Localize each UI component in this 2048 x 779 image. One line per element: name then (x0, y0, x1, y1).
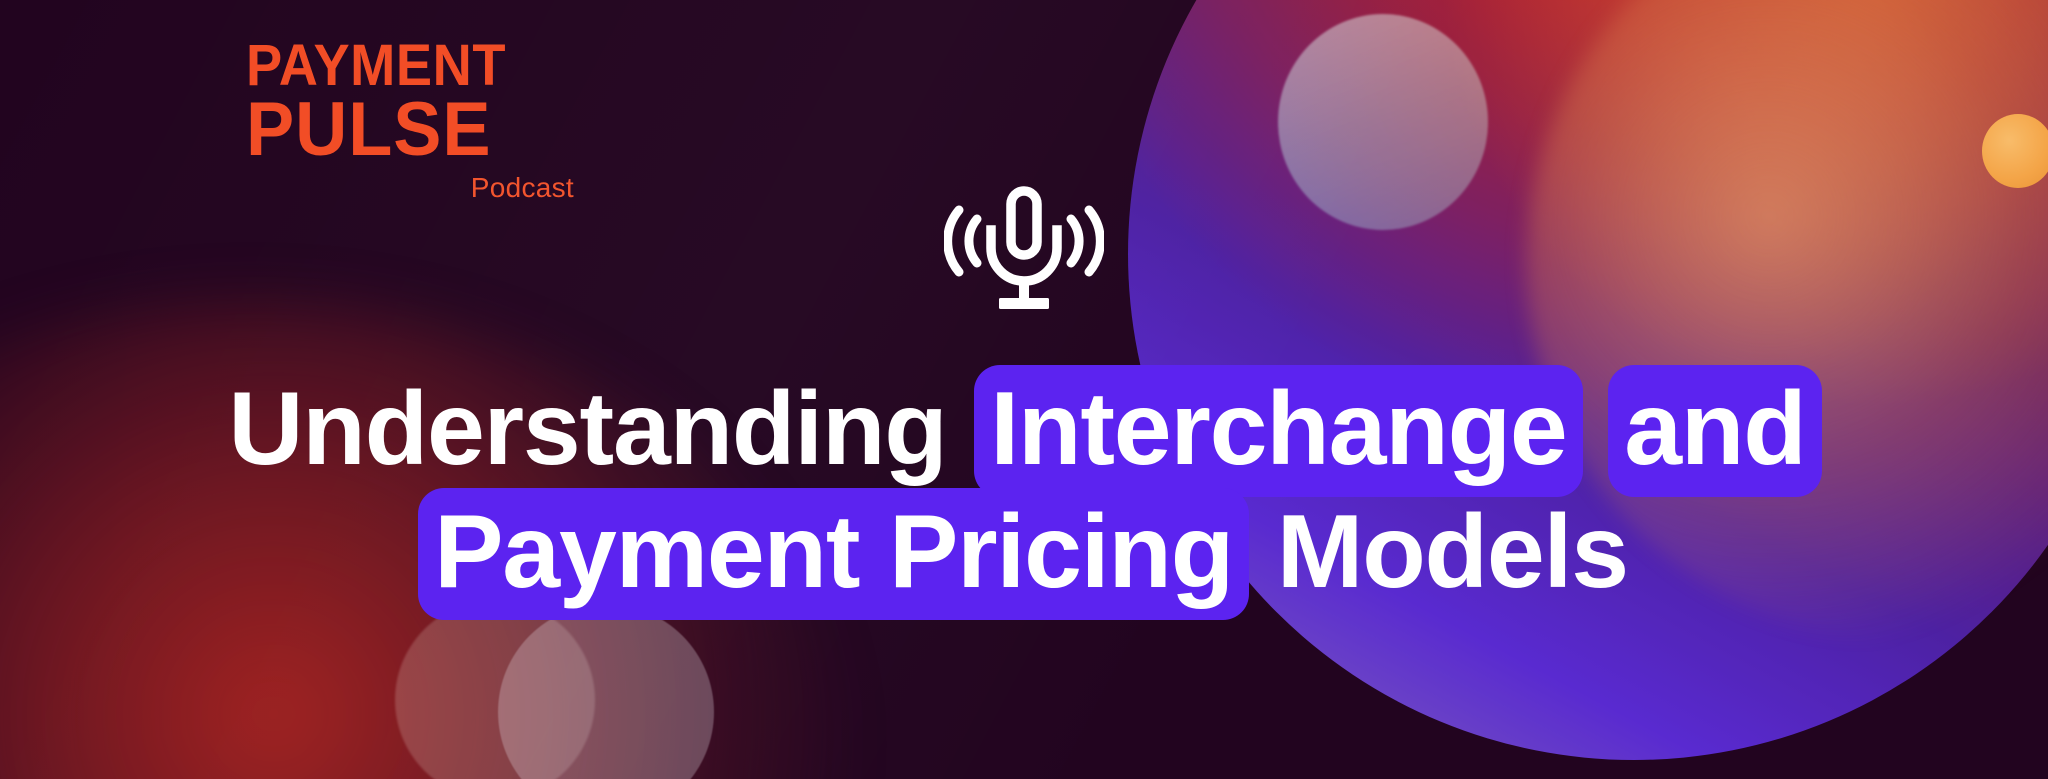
episode-title: Understanding Interchange and Payment Pr… (0, 368, 2048, 613)
title-segment-plain-1: Understanding (228, 371, 976, 487)
amber-dot-shape (1982, 114, 2048, 188)
microphone-icon-container (0, 186, 2048, 314)
title-segment-plain-3: Models (1247, 494, 1628, 610)
episode-cover-canvas: PAYMENT PULSE Podcast Understanding Inte… (0, 0, 2048, 779)
brand-logo: PAYMENT PULSE Podcast (246, 38, 588, 204)
logo-line-pulse: PULSE (246, 94, 571, 165)
logo-line-payment: PAYMENT (246, 38, 566, 94)
microphone-icon (944, 186, 1104, 314)
title-segment-plain-2 (1581, 371, 1611, 487)
title-segment-highlight-interchange: Interchange (974, 365, 1582, 497)
